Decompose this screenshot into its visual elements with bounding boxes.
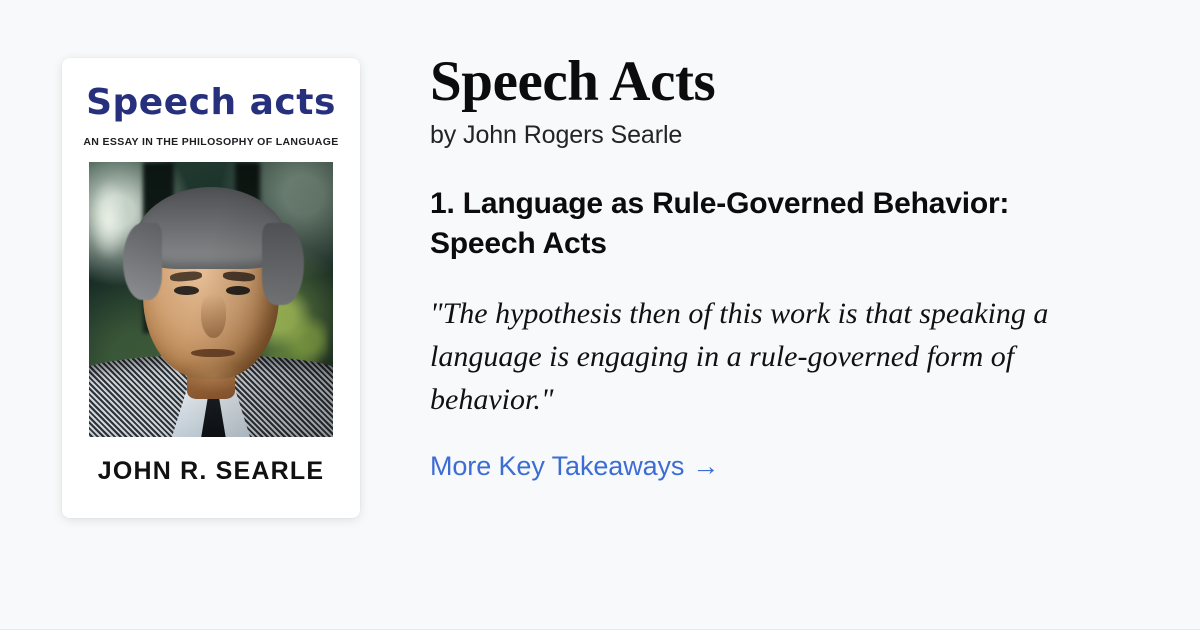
cover-author-photo <box>89 162 333 437</box>
book-details-column: Speech Acts by John Rogers Searle 1. Lan… <box>430 52 1120 482</box>
cover-author-name: JOHN R. SEARLE <box>62 457 360 486</box>
book-title: Speech Acts <box>430 52 1120 111</box>
key-takeaway-heading: 1. Language as Rule-Governed Behavior: S… <box>430 184 1030 263</box>
more-key-takeaways-label: More Key Takeaways <box>430 451 684 481</box>
arrow-right-icon: → <box>692 451 719 481</box>
book-byline: by John Rogers Searle <box>430 121 1120 150</box>
book-cover-artwork: Speech acts AN ESSAY IN THE PHILOSOPHY O… <box>62 58 360 518</box>
cover-title: Speech acts <box>62 85 360 121</box>
book-cover-card[interactable]: Speech acts AN ESSAY IN THE PHILOSOPHY O… <box>62 58 360 518</box>
share-card-page: Speech acts AN ESSAY IN THE PHILOSOPHY O… <box>0 0 1200 630</box>
key-takeaway-quote: "The hypothesis then of this work is tha… <box>430 293 1102 421</box>
photo-shading-overlay <box>89 162 333 437</box>
more-key-takeaways-link[interactable]: More Key Takeaways→ <box>430 451 719 482</box>
cover-subtitle: AN ESSAY IN THE PHILOSOPHY OF LANGUAGE <box>62 136 360 148</box>
